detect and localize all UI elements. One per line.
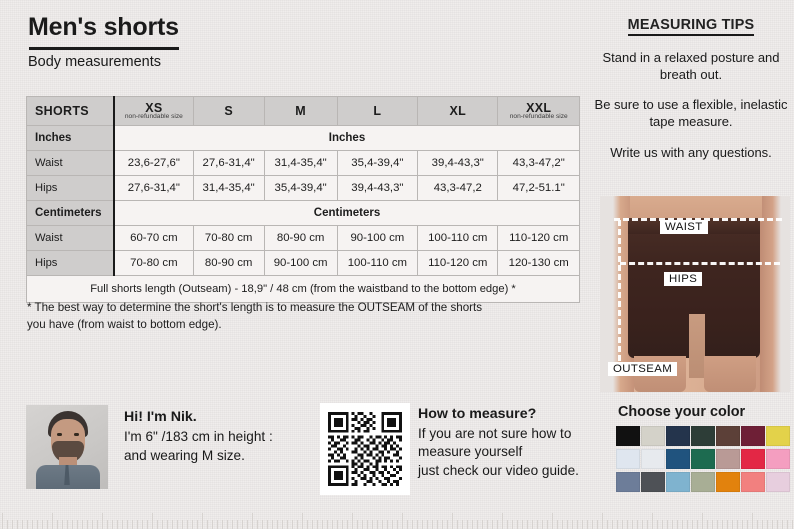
cell-waist-inches-xxl: 43,3-47,2" [498,151,580,176]
ruler-tick [487,520,488,529]
outseam-footnote: * The best way to determine the short's … [27,300,497,334]
ruler-tick [782,520,783,529]
ruler-tick [407,520,408,529]
ruler-tick [512,520,513,529]
ruler-tick [242,520,243,529]
how-to-measure-block: How to measure? If you are not sure how … [418,405,579,481]
cell-hips-cm-s: 80-90 cm [193,251,264,276]
color-swatch[interactable] [716,472,740,492]
ruler-tick [322,520,323,529]
ruler-tick [342,520,343,529]
ruler-tick [637,520,638,529]
ruler-tick [762,520,763,529]
ruler-tick [297,520,298,529]
ruler-tick [387,520,388,529]
table-header-lead: SHORTS [27,97,115,126]
table-row: Waist 60-70 cm 70-80 cm 80-90 cm 90-100 … [27,226,580,251]
ruler-tick [582,520,583,529]
ruler-tick [627,520,628,529]
ruler-tick [697,520,698,529]
ruler-tick [747,520,748,529]
ruler-tick [437,520,438,529]
avatar-eye-left [57,433,62,436]
ruler-tick [702,513,703,529]
ruler-tick [82,520,83,529]
ruler-tick [127,520,128,529]
ruler-tick [497,520,498,529]
how-to-measure-line-3: measure yourself [418,443,579,462]
ruler-tick [642,520,643,529]
color-swatch[interactable] [716,426,740,446]
ruler-tick [352,513,353,529]
color-swatch[interactable] [666,472,690,492]
color-swatch[interactable] [616,449,640,469]
cell-waist-cm-xs: 60-70 cm [114,226,193,251]
color-swatch[interactable] [641,449,665,469]
ruler-tick [737,520,738,529]
ruler-tick [232,520,233,529]
ruler-tick [47,520,48,529]
leg-gap [689,314,705,378]
color-swatch[interactable] [741,472,765,492]
ruler-tick [477,520,478,529]
color-swatch[interactable] [766,472,790,492]
ruler-tick [427,520,428,529]
ruler-tick [7,520,8,529]
ruler-tick [57,520,58,529]
color-swatch[interactable] [741,449,765,469]
ruler-tick [472,520,473,529]
cell-waist-inches-xs: 23,6-27,6" [114,151,193,176]
table-header-row: SHORTS XSnon-refundable size S M L XL XX… [27,97,580,126]
ruler-tick [677,520,678,529]
ruler-tick [522,520,523,529]
ruler-tick [592,520,593,529]
cell-hips-inches-xxl: 47,2-51.1" [498,176,580,201]
ruler-tick [602,513,603,529]
ruler-tick [382,520,383,529]
ruler-tick [587,520,588,529]
ruler-tick [652,513,653,529]
color-swatch-grid[interactable] [616,426,788,492]
ruler-tick [662,520,663,529]
cell-hips-cm-xs: 70-80 cm [114,251,193,276]
ruler-tick [137,520,138,529]
size-header-xs: XSnon-refundable size [114,97,193,126]
ruler-tick [787,520,788,529]
ruler-tick [332,520,333,529]
waist-label: WAIST [660,220,708,234]
ruler-tick [577,520,578,529]
ruler-tick [672,520,673,529]
ruler-tick [792,520,793,529]
cell-hips-inches-m: 35,4-39,4" [264,176,337,201]
tip-line-2: Be sure to use a flexible, inelastic tap… [592,96,790,130]
measurement-photo: WAIST HIPS OUTSEAM [600,196,790,392]
color-swatch[interactable] [691,449,715,469]
ruler-tick [692,520,693,529]
ruler-tick [772,520,773,529]
ruler-tick [237,520,238,529]
ruler-tick [307,520,308,529]
table-row: Centimeters Centimeters [27,201,580,226]
ruler-tick [442,520,443,529]
row-lead-hips-cm: Hips [27,251,115,276]
ruler-tick [632,520,633,529]
how-to-measure-line-4: just check our video guide. [418,462,579,481]
cell-hips-inches-xs: 27,6-31,4" [114,176,193,201]
size-chart-table: SHORTS XSnon-refundable size S M L XL XX… [26,96,580,303]
size-label: XL [449,104,466,118]
ruler-tick [377,520,378,529]
ruler-tick [197,520,198,529]
ruler-tick [277,520,278,529]
ruler-tick [452,513,453,529]
ruler-tick [142,520,143,529]
page-title: Men's shorts [28,14,179,42]
ruler-tick [397,520,398,529]
cell-hips-inches-s: 31,4-35,4" [193,176,264,201]
ruler-tick [542,520,543,529]
ruler-tick [182,520,183,529]
model-size-line: and wearing M size. [124,446,273,465]
ruler-tick [172,520,173,529]
cell-hips-cm-xxl: 120-130 cm [498,251,580,276]
size-header-xxl: XXLnon-refundable size [498,97,580,126]
ruler-tick [222,520,223,529]
color-swatch[interactable] [691,472,715,492]
section-lead-inches: Inches [27,126,115,151]
ruler-tick [447,520,448,529]
ruler-tick [742,520,743,529]
ruler-tick [302,513,303,529]
table-row: Waist 23,6-27,6" 27,6-31,4" 31,4-35,4" 3… [27,151,580,176]
ruler-tick [597,520,598,529]
ruler-tick [217,520,218,529]
ruler-tick [272,520,273,529]
model-height-line: I'm 6" /183 cm in height : [124,427,273,446]
ruler-tick [357,520,358,529]
ruler-tick [92,520,93,529]
ruler-tick [457,520,458,529]
ruler-tick [107,520,108,529]
ruler-tick [392,520,393,529]
row-lead-waist-inches: Waist [27,151,115,176]
ruler-tick [37,520,38,529]
ruler-tick [152,513,153,529]
color-swatch[interactable] [741,426,765,446]
ruler-tick [412,520,413,529]
table-row: Hips 27,6-31,4" 31,4-35,4" 35,4-39,4" 39… [27,176,580,201]
ruler-tick [157,520,158,529]
ruler-tick [132,520,133,529]
ruler-tick [367,520,368,529]
ruler-tick [102,513,103,529]
ruler-tick [432,520,433,529]
ruler-tick [67,520,68,529]
ruler-tick [517,520,518,529]
ruler-tick [727,520,728,529]
model-greeting: Hi! I'm Nik. [124,407,273,427]
ruler-tick [572,520,573,529]
ruler-tick [257,520,258,529]
ruler-tick [717,520,718,529]
cell-waist-cm-xxl: 110-120 cm [498,226,580,251]
row-lead-hips-inches: Hips [27,176,115,201]
ruler-tick [482,520,483,529]
cell-hips-cm-l: 100-110 cm [337,251,417,276]
ruler-tick [417,520,418,529]
table-row: Full shorts length (Outseam) - 18,9" / 4… [27,276,580,303]
hips-guide-line [620,262,780,265]
ruler-tick [192,520,193,529]
title-underline [29,47,179,50]
tip-line-3: Write us with any questions. [592,144,790,161]
page-subtitle: Body measurements [28,54,179,71]
cell-hips-cm-xl: 110-120 cm [418,251,498,276]
ruler-tick [532,520,533,529]
qr-code-icon[interactable] [328,412,402,486]
ruler-tick [202,513,203,529]
ruler-tick [97,520,98,529]
section-span-inches: Inches [114,126,580,151]
size-header-s: S [193,97,264,126]
ruler-tick [757,520,758,529]
measuring-tips-heading: MEASURING TIPS [628,17,755,36]
ruler-tick [712,520,713,529]
outseam-label: OUTSEAM [608,362,677,376]
ruler-tick [177,520,178,529]
ruler-tick [312,520,313,529]
ruler-tick [122,520,123,529]
ruler-tick [247,520,248,529]
ruler-tick [62,520,63,529]
ruler-tick [462,520,463,529]
cell-waist-cm-l: 90-100 cm [337,226,417,251]
ruler-tick [42,520,43,529]
ruler-tick [402,513,403,529]
ruler-tick [347,520,348,529]
ruler-tick [212,520,213,529]
outseam-guide-line [618,220,621,370]
hips-label: HIPS [664,272,702,286]
size-label: S [224,104,233,118]
ruler-tick [327,520,328,529]
ruler-tick [167,520,168,529]
cell-waist-inches-xl: 39,4-43,3" [418,151,498,176]
ruler-graphic [0,499,794,529]
ruler-tick [777,520,778,529]
color-swatch[interactable] [666,449,690,469]
ruler-tick [187,520,188,529]
ruler-tick [557,520,558,529]
section-lead-cm: Centimeters [27,201,115,226]
color-swatch[interactable] [666,426,690,446]
length-note: Full shorts length (Outseam) - 18,9" / 4… [27,276,580,303]
cell-hips-cm-m: 90-100 cm [264,251,337,276]
ruler-tick [752,513,753,529]
avatar [26,405,108,489]
ruler-tick [492,520,493,529]
color-swatch[interactable] [616,426,640,446]
color-swatch[interactable] [766,449,790,469]
ruler-tick [362,520,363,529]
ruler-tick [567,520,568,529]
ruler-tick [527,520,528,529]
size-header-xl: XL [418,97,498,126]
ruler-tick [227,520,228,529]
size-label: L [373,104,381,118]
cell-hips-inches-l: 39,4-43,3" [337,176,417,201]
ruler-tick [162,520,163,529]
ruler-tick [252,513,253,529]
ruler-tick [287,520,288,529]
size-sublabel: non-refundable size [498,114,579,121]
color-swatch[interactable] [691,426,715,446]
model-right-leg [704,356,756,392]
table-row: Hips 70-80 cm 80-90 cm 90-100 cm 100-110… [27,251,580,276]
ruler-tick [722,520,723,529]
ruler-tick [682,520,683,529]
ruler-tick [262,520,263,529]
avatar-eye-right [74,433,79,436]
ruler-tick [687,520,688,529]
ruler-tick [617,520,618,529]
ruler-tick [767,520,768,529]
cell-hips-inches-xl: 43,3-47,2 [418,176,498,201]
size-sublabel: non-refundable size [115,114,193,121]
title-block: Men's shorts Body measurements [28,14,179,71]
ruler-tick [317,520,318,529]
ruler-tick [52,513,53,529]
cell-waist-inches-l: 35,4-39,4" [337,151,417,176]
ruler-tick [607,520,608,529]
ruler-tick [657,520,658,529]
ruler-tick [667,520,668,529]
measuring-tips-panel: MEASURING TIPS Stand in a relaxed postur… [592,16,790,161]
ruler-tick [77,520,78,529]
ruler-tick [27,520,28,529]
ruler-tick [207,520,208,529]
row-lead-waist-cm: Waist [27,226,115,251]
ruler-tick [282,520,283,529]
ruler-tick [467,520,468,529]
ruler-tick [72,520,73,529]
ruler-tick [612,520,613,529]
ruler-tick [647,520,648,529]
color-swatch[interactable] [616,472,640,492]
ruler-tick [22,520,23,529]
ruler-tick [2,513,3,529]
cell-waist-cm-xl: 100-110 cm [418,226,498,251]
color-swatch[interactable] [641,426,665,446]
cell-waist-inches-m: 31,4-35,4" [264,151,337,176]
ruler-tick [507,520,508,529]
ruler-tick [32,520,33,529]
color-swatch[interactable] [641,472,665,492]
ruler-tick [112,520,113,529]
size-header-m: M [264,97,337,126]
ruler-tick [552,513,553,529]
cell-waist-cm-s: 70-80 cm [193,226,264,251]
section-span-cm: Centimeters [114,201,580,226]
ruler-tick [562,520,563,529]
cell-waist-inches-s: 27,6-31,4" [193,151,264,176]
table-row: Inches Inches [27,126,580,151]
size-label: M [295,104,306,118]
cell-waist-cm-m: 80-90 cm [264,226,337,251]
ruler-tick [732,520,733,529]
color-swatch[interactable] [766,426,790,446]
color-picker-block: Choose your color [616,404,788,492]
ruler-tick [117,520,118,529]
ruler-tick [12,520,13,529]
ruler-tick [707,520,708,529]
photo-right-edge [760,196,790,392]
qr-code-container[interactable] [320,403,410,495]
ruler-tick [17,520,18,529]
how-to-measure-heading: How to measure? [418,405,579,425]
ruler-tick [537,520,538,529]
ruler-tick [147,520,148,529]
size-header-l: L [337,97,417,126]
model-intro-block: Hi! I'm Nik. I'm 6" /183 cm in height : … [26,405,108,489]
color-swatch[interactable] [716,449,740,469]
ruler-tick [422,520,423,529]
color-picker-heading: Choose your color [618,404,788,420]
tip-line-1: Stand in a relaxed posture and breath ou… [592,49,790,83]
model-intro-text: Hi! I'm Nik. I'm 6" /183 cm in height : … [124,407,273,466]
ruler-tick [547,520,548,529]
ruler-tick [292,520,293,529]
how-to-measure-line-2: If you are not sure how to [418,425,579,444]
ruler-tick [337,520,338,529]
ruler-tick [502,513,503,529]
ruler-tick [267,520,268,529]
ruler-tick [87,520,88,529]
ruler-tick [372,520,373,529]
ruler-tick [622,520,623,529]
